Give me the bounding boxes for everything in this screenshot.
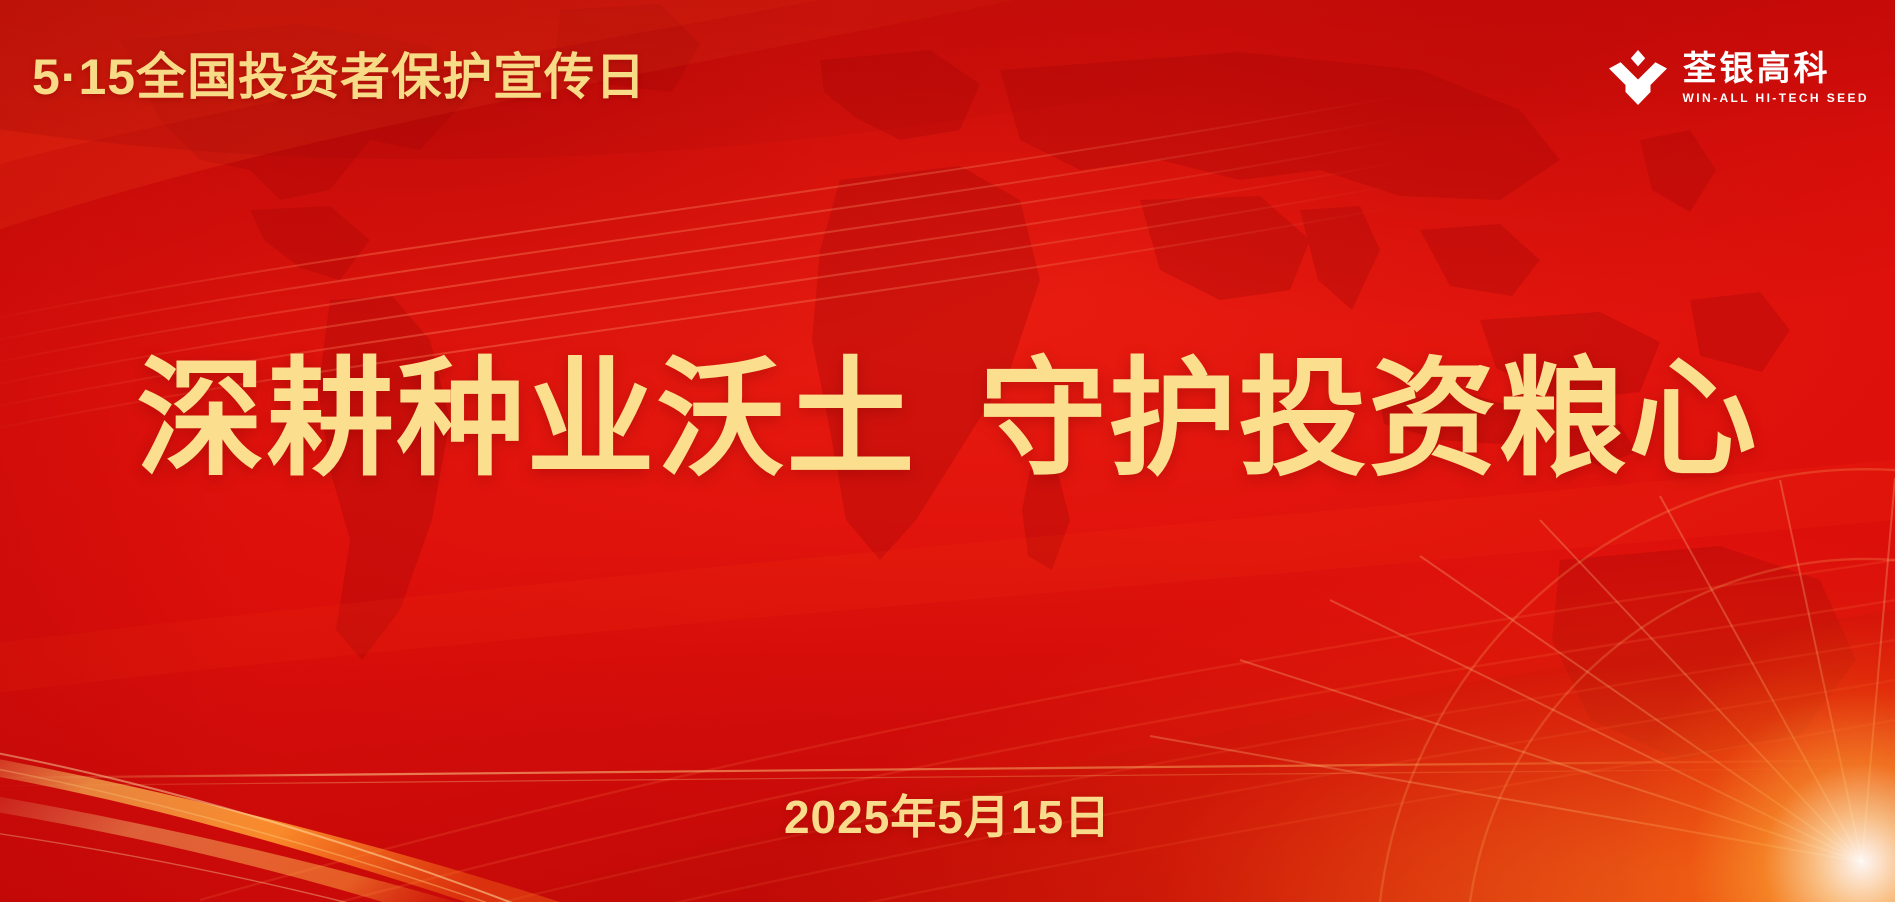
company-logo-text: 荃银高科 WIN-ALL HI-TECH SEED <box>1683 51 1869 105</box>
banner-content: 5·15全国投资者保护宣传日 荃银高科 WIN-ALL HI-TECH SEED… <box>0 0 1895 902</box>
event-date: 2025年5月15日 <box>0 794 1895 840</box>
headline-phrase-2: 守护投资粮心 <box>979 344 1759 495</box>
investor-protection-banner: 5·15全国投资者保护宣传日 荃银高科 WIN-ALL HI-TECH SEED… <box>0 0 1895 902</box>
company-logo: 荃银高科 WIN-ALL HI-TECH SEED <box>1607 48 1869 108</box>
campaign-eyebrow-title: 5·15全国投资者保护宣传日 <box>32 52 646 102</box>
main-headline: 深耕种业沃土守护投资粮心 <box>0 344 1895 495</box>
winall-sprout-chevron-icon <box>1607 48 1669 108</box>
company-name-en: WIN-ALL HI-TECH SEED <box>1683 92 1869 105</box>
company-name-cn: 荃银高科 <box>1683 51 1869 88</box>
headline-phrase-1: 深耕种业沃土 <box>136 344 916 495</box>
